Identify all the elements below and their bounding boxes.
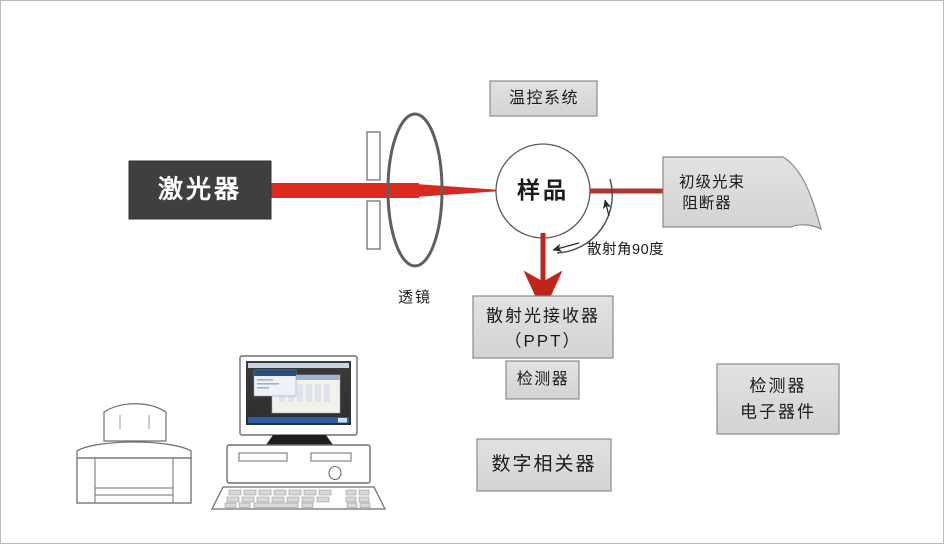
scattering-angle-label: 散射角90度 xyxy=(587,241,664,258)
detector-electronics-box[interactable] xyxy=(717,364,839,434)
laser-source[interactable]: 激光器 xyxy=(129,161,271,219)
sample-label: 样品 xyxy=(517,177,569,203)
temp-control-block[interactable]: 温控系统 xyxy=(490,81,597,116)
beam-stop-label-line2: 阻断器 xyxy=(682,194,732,212)
screen-window-taskbar-top xyxy=(248,363,349,368)
screen-taskbar-bottom xyxy=(248,417,349,423)
printer-body xyxy=(77,458,191,503)
detector-electronics-label-line1: 检测器 xyxy=(750,376,807,395)
lens-caption: 透镜 xyxy=(398,288,432,306)
aperture-bottom-slit xyxy=(367,201,380,249)
computer-tower xyxy=(227,445,370,483)
screen-taskbar-button xyxy=(338,418,347,423)
scatter-receiver-block[interactable]: 散射光接收器 （PPT） xyxy=(473,296,613,358)
screen-window-dialog-titlebar xyxy=(254,370,296,376)
tower-power-button xyxy=(329,467,341,480)
keyboard-keys xyxy=(225,490,370,508)
tower-drive-bay-1 xyxy=(239,453,287,461)
printer-illustration xyxy=(77,404,191,503)
detector-electronics-label-line2: 电子器件 xyxy=(740,402,816,421)
temp-control-label: 温控系统 xyxy=(509,89,579,107)
diagram-canvas: 激光器 透镜 样品 散射角90度 xyxy=(0,0,944,544)
digital-correlator-label: 数字相关器 xyxy=(491,453,596,475)
beam-stop-block[interactable]: 初级光束 阻断器 xyxy=(663,157,821,229)
beam-stop-label-line1: 初级光束 xyxy=(679,173,745,191)
scatter-receiver-label-line1: 散射光接收器 xyxy=(486,306,600,325)
printer-paper-tray xyxy=(104,404,166,441)
aperture-top-slit xyxy=(367,132,380,180)
detector-electronics-block[interactable]: 检测器 电子器件 xyxy=(717,364,839,434)
dls-schematic: 激光器 透镜 样品 散射角90度 xyxy=(1,1,944,544)
digital-correlator-block[interactable]: 数字相关器 xyxy=(477,439,611,491)
scatter-receiver-label-line2: （PPT） xyxy=(504,331,581,350)
sample-cell[interactable]: 样品 xyxy=(496,144,590,238)
lens-assembly: 透镜 xyxy=(388,114,442,306)
computer-illustration xyxy=(212,356,385,509)
angle-arrow-up xyxy=(605,200,609,216)
laser-label: 激光器 xyxy=(158,175,242,204)
detector-block[interactable]: 检测器 xyxy=(506,361,579,399)
printer-top-bevel xyxy=(77,442,191,458)
laser-beam-core xyxy=(269,183,419,198)
tower-drive-bay-2 xyxy=(311,453,351,461)
detector-label: 检测器 xyxy=(517,370,570,388)
beam-stop-shape[interactable] xyxy=(663,157,821,229)
